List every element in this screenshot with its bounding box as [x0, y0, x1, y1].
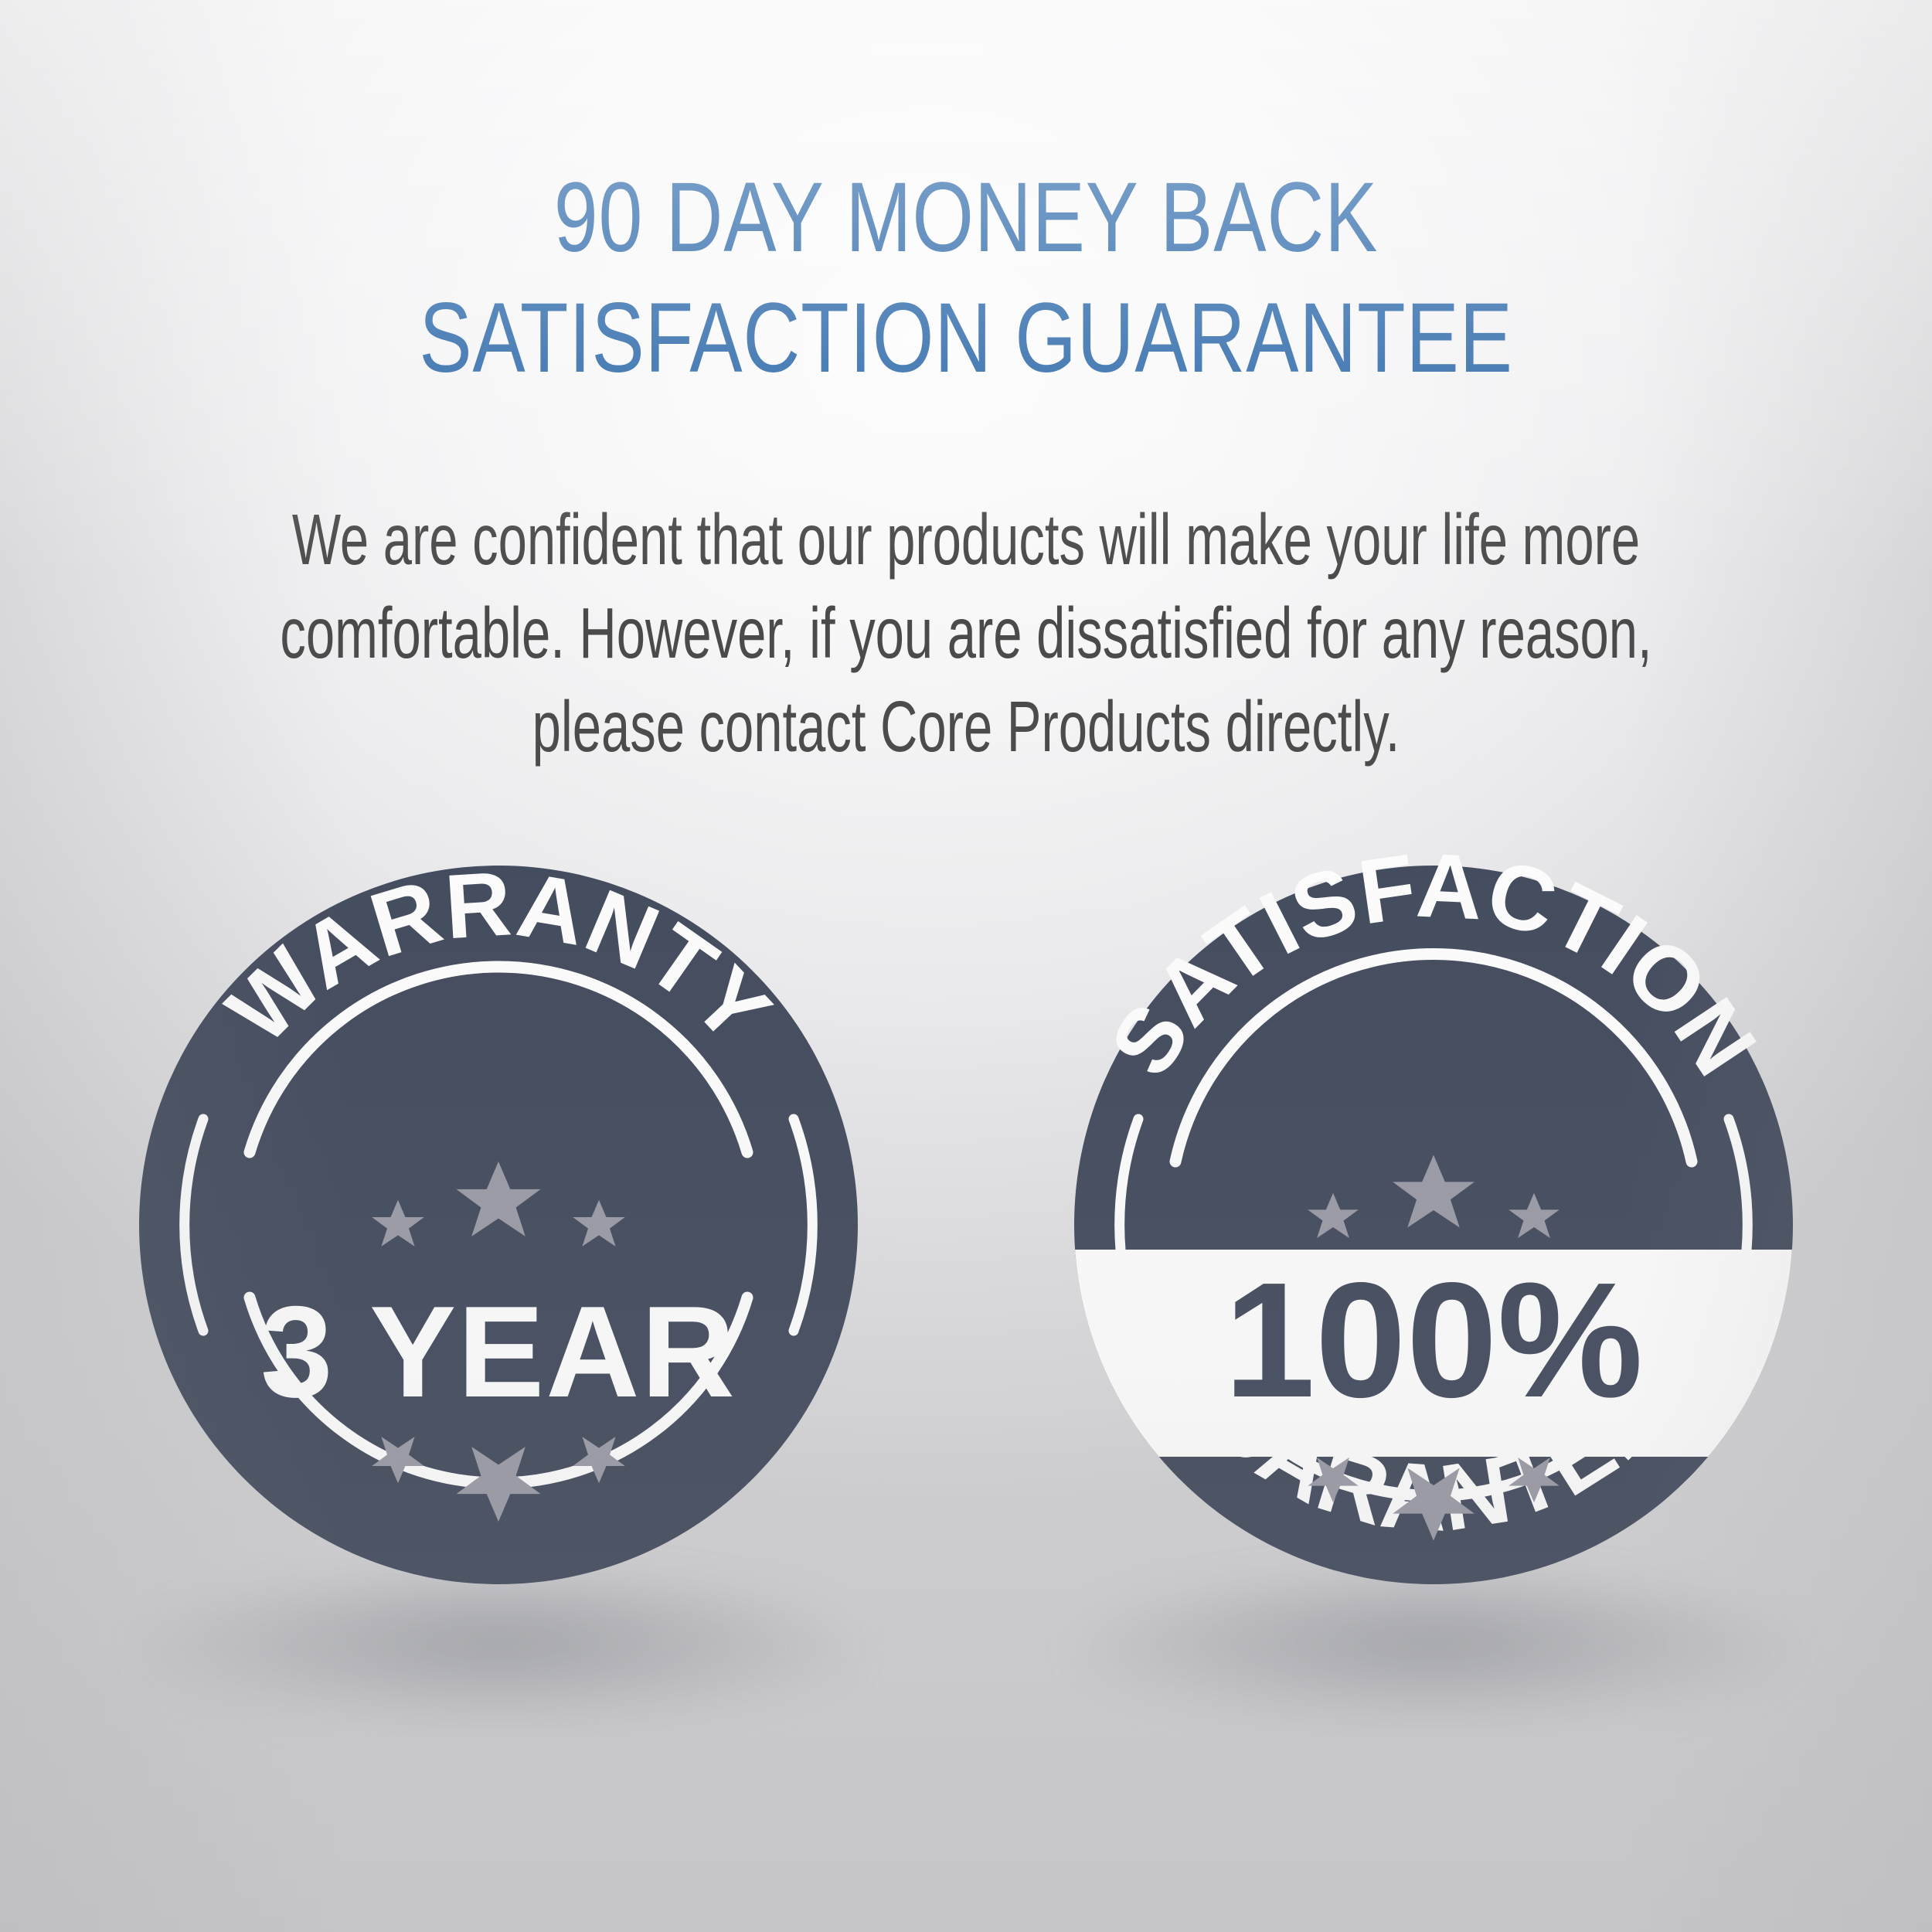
satisfaction-band-label: 100%: [1224, 1248, 1643, 1431]
satisfaction-badge-graphic: SATISFACTION GUARANTEED 100%: [1024, 815, 1843, 1634]
warranty-badge: WARRANTY 3 YEAR: [89, 815, 908, 1634]
guarantee-graphic: 90 DAY MONEY BACK SATISFACTION GUARANTEE…: [0, 0, 1932, 1932]
warranty-badge-graphic: WARRANTY 3 YEAR: [89, 815, 908, 1634]
guarantee-description: We are confident that our products will …: [270, 493, 1662, 774]
satisfaction-badge: SATISFACTION GUARANTEED 100%: [1024, 815, 1843, 1634]
page-title: 90 DAY MONEY BACK SATISFACTION GUARANTEE: [193, 158, 1739, 399]
warranty-center-label: 3 YEAR: [260, 1279, 736, 1424]
